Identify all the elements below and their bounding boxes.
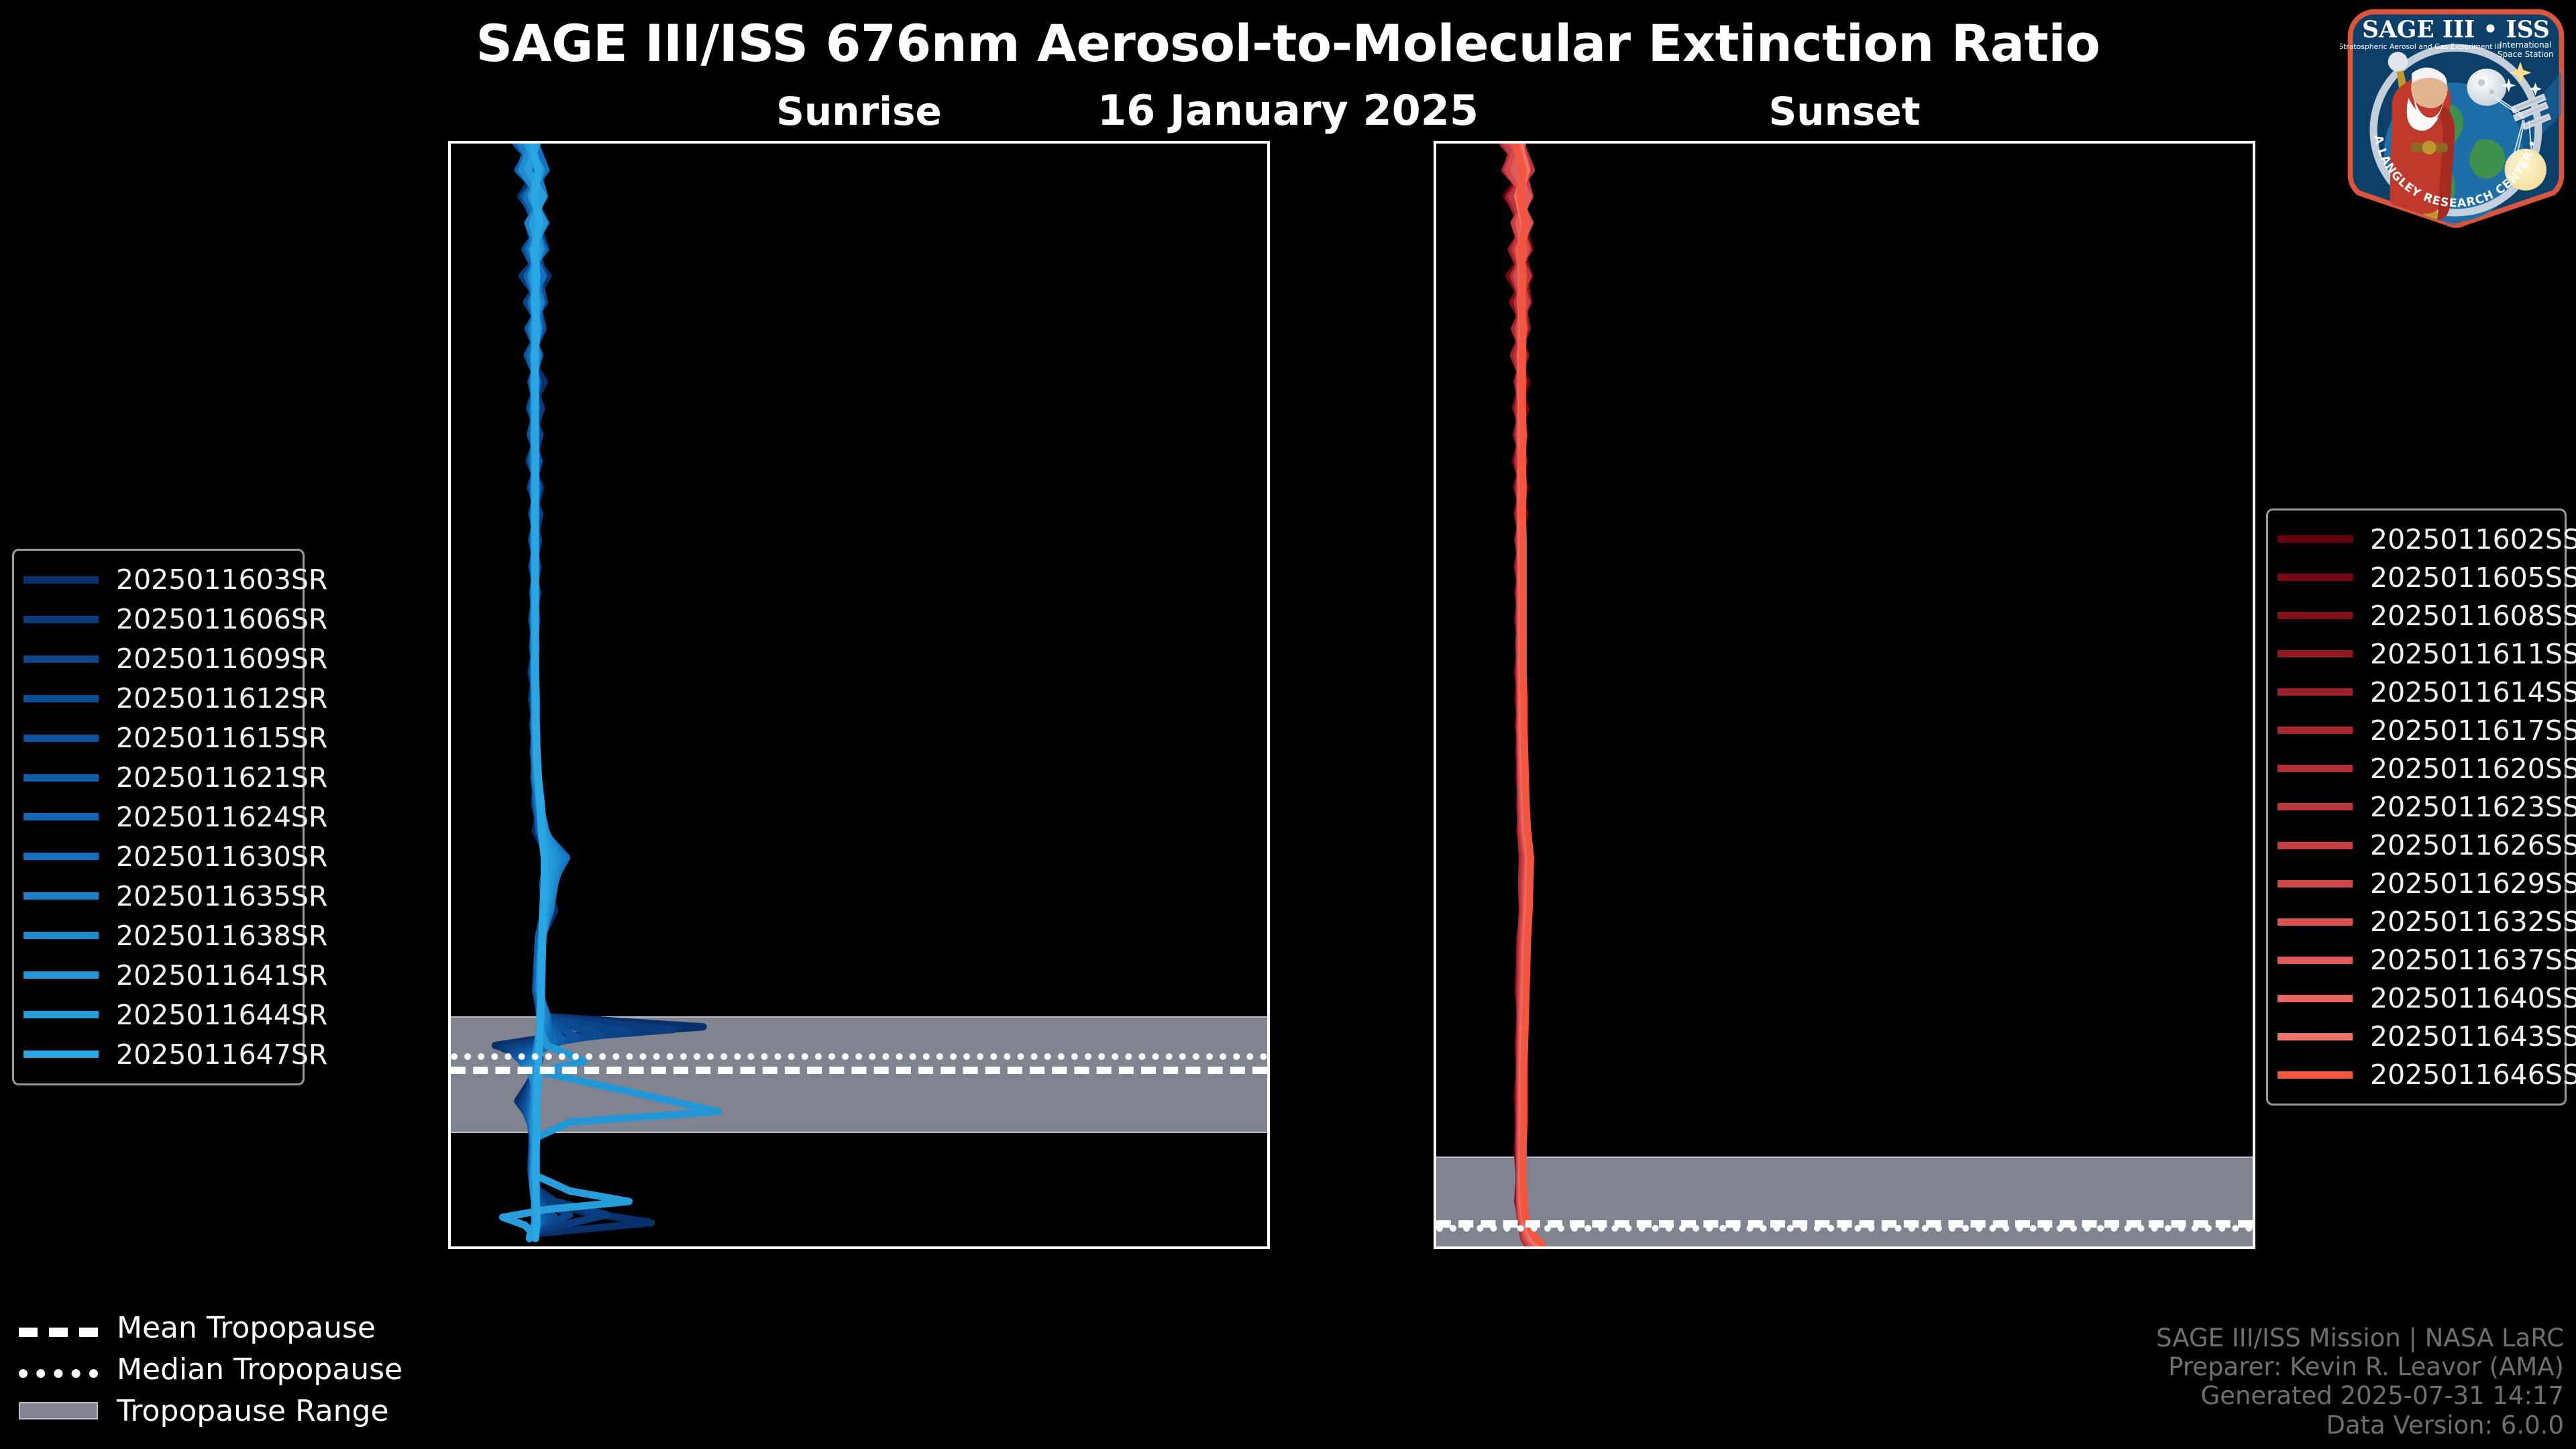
legend-item-label: 2025011647SR <box>116 1038 327 1071</box>
panel-title-sunset: Sunset <box>1434 89 2255 134</box>
legend-item-2025011644SR[interactable]: 2025011644SR <box>23 995 290 1034</box>
y-tick <box>448 1201 451 1204</box>
x-tick <box>525 1246 528 1249</box>
legend-color-swatch <box>23 892 99 900</box>
figure-canvas: SAGE III/ISS 676nm Aerosol-to-Molecular … <box>0 0 2576 1449</box>
tropopause-range-icon <box>19 1401 98 1421</box>
x-tick <box>1807 1246 1810 1249</box>
series-legend-sunset[interactable]: 2025011602SS2025011605SS2025011608SS2025… <box>2266 508 2567 1106</box>
x-tick <box>1267 1246 1270 1249</box>
legend-item-label: 2025011606SR <box>116 603 327 635</box>
x-tick <box>1659 1246 1662 1249</box>
legend-item-label: 2025011624SR <box>116 801 327 833</box>
x-tick <box>970 1246 973 1249</box>
legend-item-label: 2025011620SS <box>2370 753 2576 785</box>
tropopause-legend: Mean Tropopause Median Tropopause Tropop… <box>19 1307 435 1432</box>
legend-color-swatch <box>23 774 99 782</box>
legend-color-swatch <box>2277 880 2353 888</box>
legend-item-2025011621SR[interactable]: 2025011621SR <box>23 758 290 798</box>
y-tick <box>1434 144 1436 146</box>
logo-title: SAGE III • ISS <box>2362 17 2550 44</box>
legend-item-2025011603SR[interactable]: 2025011603SR <box>23 560 290 600</box>
legend-color-swatch <box>23 1011 99 1018</box>
legend-color-swatch <box>23 655 99 663</box>
legend-item-2025011626SS[interactable]: 2025011626SS <box>2277 826 2553 865</box>
legend-item-label: 2025011632SS <box>2370 906 2576 938</box>
legend-item-2025011641SR[interactable]: 2025011641SR <box>23 955 290 995</box>
plot-axes-sunset: Altitude [km] Aerosol-To-Molecular Extin… <box>1434 141 2255 1249</box>
legend-color-swatch <box>23 1051 99 1058</box>
legend-item-2025011632SS[interactable]: 2025011632SS <box>2277 903 2553 941</box>
legend-color-swatch <box>2277 1033 2353 1040</box>
legend-color-swatch <box>2277 995 2353 1002</box>
legend-item-2025011611SS[interactable]: 2025011611SS <box>2277 635 2553 673</box>
legend-row-tropopause-range: Tropopause Range <box>19 1390 435 1432</box>
x-tick <box>2253 1246 2255 1249</box>
mean-tropopause-icon <box>19 1318 98 1338</box>
legend-color-swatch <box>2277 842 2353 849</box>
legend-item-2025011614SS[interactable]: 2025011614SS <box>2277 673 2553 711</box>
legend-color-swatch <box>23 735 99 742</box>
legend-item-2025011637SS[interactable]: 2025011637SS <box>2277 941 2553 979</box>
legend-color-swatch <box>23 813 99 820</box>
x-tick <box>674 1246 676 1249</box>
legend-color-swatch <box>2277 650 2353 657</box>
legend-item-label: 2025011638SR <box>116 920 327 952</box>
legend-item-label: 2025011602SS <box>2370 523 2576 555</box>
legend-item-label: 2025011617SS <box>2370 714 2576 747</box>
median-tropopause-line <box>1436 1225 2253 1232</box>
legend-item-2025011643SS[interactable]: 2025011643SS <box>2277 1018 2553 1056</box>
legend-item-2025011620SS[interactable]: 2025011620SS <box>2277 749 2553 788</box>
median-tropopause-label: Median Tropopause <box>117 1352 402 1387</box>
series-lines-sunrise <box>451 144 1267 1246</box>
legend-color-swatch <box>23 576 99 584</box>
mean-tropopause-line <box>451 1067 1267 1074</box>
y-tick <box>1434 408 1436 411</box>
legend-item-label: 2025011621SR <box>116 761 327 794</box>
legend-item-2025011609SR[interactable]: 2025011609SR <box>23 639 290 679</box>
legend-color-swatch <box>2277 535 2353 543</box>
sage-iii-iss-logo: BALL • NASA LANGLEY RESEARCH CENTER • TA… <box>2340 1 2572 233</box>
y-tick <box>448 540 451 543</box>
legend-item-label: 2025011635SR <box>116 880 327 912</box>
legend-item-label: 2025011640SS <box>2370 982 2576 1014</box>
legend-item-2025011615SR[interactable]: 2025011615SR <box>23 718 290 758</box>
credit-data-version: Data Version: 6.0.0 <box>2156 1411 2564 1440</box>
series-legend-sunrise[interactable]: 2025011603SR2025011606SR2025011609SR2025… <box>12 549 305 1085</box>
x-tick <box>1511 1246 1513 1249</box>
legend-item-2025011605SS[interactable]: 2025011605SS <box>2277 558 2553 596</box>
legend-color-swatch <box>23 853 99 860</box>
legend-color-swatch <box>2277 612 2353 619</box>
legend-item-label: 2025011630SR <box>116 841 327 873</box>
legend-color-swatch <box>2277 1071 2353 1079</box>
x-tick <box>1119 1246 1122 1249</box>
y-tick <box>448 805 451 808</box>
legend-item-2025011640SS[interactable]: 2025011640SS <box>2277 979 2553 1018</box>
legend-color-swatch <box>23 695 99 702</box>
legend-item-2025011635SR[interactable]: 2025011635SR <box>23 876 290 916</box>
legend-row-median-tropopause: Median Tropopause <box>19 1348 435 1390</box>
logo-subtitle-right-2: Space Station <box>2498 50 2554 59</box>
y-tick <box>1434 540 1436 543</box>
x-tick <box>1955 1246 1958 1249</box>
legend-item-label: 2025011608SS <box>2370 600 2576 632</box>
y-tick <box>1434 276 1436 278</box>
x-tick <box>822 1246 824 1249</box>
legend-item-label: 2025011605SS <box>2370 561 2576 594</box>
y-tick <box>448 1069 451 1072</box>
legend-item-label: 2025011614SS <box>2370 676 2576 708</box>
credit-preparer: Preparer: Kevin R. Leavor (AMA) <box>2156 1352 2564 1381</box>
legend-item-label: 2025011641SR <box>116 959 327 991</box>
plot-area-sunrise <box>451 144 1267 1246</box>
series-lines-sunset <box>1436 144 2253 1246</box>
legend-item-2025011602SS[interactable]: 2025011602SS <box>2277 520 2553 558</box>
median-tropopause-icon <box>19 1359 98 1379</box>
legend-item-label: 2025011623SS <box>2370 791 2576 823</box>
legend-color-swatch <box>2277 918 2353 926</box>
series-line <box>527 144 718 1238</box>
legend-color-swatch <box>23 932 99 939</box>
y-tick <box>1434 1069 1436 1072</box>
legend-color-swatch <box>2277 574 2353 581</box>
y-tick <box>448 144 451 146</box>
page-title: SAGE III/ISS 676nm Aerosol-to-Molecular … <box>0 13 2576 73</box>
legend-item-2025011629SS[interactable]: 2025011629SS <box>2277 865 2553 903</box>
legend-item-2025011608SS[interactable]: 2025011608SS <box>2277 596 2553 635</box>
legend-item-2025011638SR[interactable]: 2025011638SR <box>23 916 290 955</box>
legend-item-2025011606SR[interactable]: 2025011606SR <box>23 600 290 639</box>
panel-title-sunrise: Sunrise <box>448 89 1270 134</box>
legend-item-2025011624SR[interactable]: 2025011624SR <box>23 798 290 837</box>
legend-item-label: 2025011644SR <box>116 999 327 1031</box>
legend-item-label: 2025011612SR <box>116 682 327 714</box>
legend-color-swatch <box>2277 957 2353 964</box>
logo-subtitle-left: Stratospheric Aerosol and Gas Experiment… <box>2340 42 2501 51</box>
legend-item-label: 2025011637SS <box>2370 944 2576 976</box>
legend-color-swatch <box>23 971 99 979</box>
y-tick <box>448 672 451 675</box>
median-tropopause-line <box>451 1053 1267 1060</box>
plot-axes-sunrise: Altitude [km] Aerosol-To-Molecular Extin… <box>448 141 1270 1249</box>
y-tick <box>1434 1201 1436 1204</box>
legend-item-label: 2025011611SS <box>2370 638 2576 670</box>
legend-item-label: 2025011609SR <box>116 643 327 675</box>
tropopause-range-label: Tropopause Range <box>117 1394 389 1428</box>
legend-item-label: 2025011643SS <box>2370 1020 2576 1053</box>
legend-item-2025011623SS[interactable]: 2025011623SS <box>2277 788 2553 826</box>
legend-color-swatch <box>2277 803 2353 810</box>
legend-item-2025011646SS[interactable]: 2025011646SS <box>2277 1056 2553 1094</box>
logo-subtitle-right-1: International <box>2500 40 2551 50</box>
mean-tropopause-label: Mean Tropopause <box>117 1311 376 1345</box>
plot-area-sunset <box>1436 144 2253 1246</box>
y-tick <box>448 408 451 411</box>
legend-item-2025011630SR[interactable]: 2025011630SR <box>23 837 290 876</box>
y-tick <box>1434 937 1436 940</box>
legend-item-label: 2025011615SR <box>116 722 327 754</box>
legend-item-2025011647SR[interactable]: 2025011647SR <box>23 1034 290 1074</box>
legend-color-swatch <box>2277 727 2353 734</box>
y-tick <box>1434 805 1436 808</box>
legend-color-swatch <box>2277 688 2353 696</box>
legend-color-swatch <box>2277 765 2353 772</box>
legend-item-label: 2025011626SS <box>2370 829 2576 861</box>
legend-item-2025011617SS[interactable]: 2025011617SS <box>2277 711 2553 749</box>
credit-generated: Generated 2025-07-31 14:17 <box>2156 1381 2564 1410</box>
legend-item-label: 2025011646SS <box>2370 1059 2576 1091</box>
legend-color-swatch <box>23 616 99 623</box>
legend-item-2025011612SR[interactable]: 2025011612SR <box>23 679 290 718</box>
y-tick <box>1434 672 1436 675</box>
legend-row-mean-tropopause: Mean Tropopause <box>19 1307 435 1348</box>
x-tick <box>2104 1246 2107 1249</box>
y-tick <box>448 937 451 940</box>
legend-item-label: 2025011603SR <box>116 563 327 596</box>
credit-mission: SAGE III/ISS Mission | NASA LaRC <box>2156 1324 2564 1352</box>
credits-block: SAGE III/ISS Mission | NASA LaRC Prepare… <box>2156 1324 2564 1440</box>
y-tick <box>448 276 451 278</box>
legend-item-label: 2025011629SS <box>2370 867 2576 900</box>
